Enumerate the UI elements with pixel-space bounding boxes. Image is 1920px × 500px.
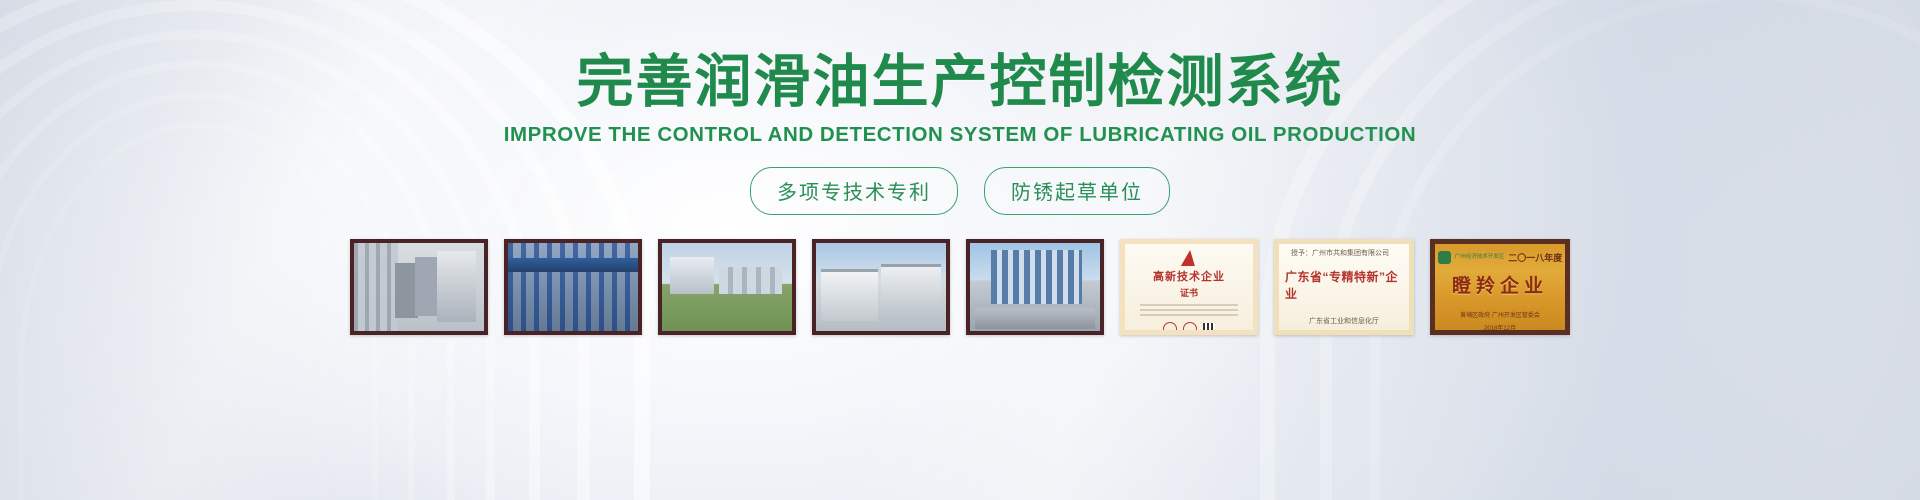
certificate-text-lines — [1140, 304, 1237, 319]
plaque-gazelle-enterprise[interactable]: 广州经济技术开发区 二〇一八年度 瞪羚企业 黄埔区政府 广州开发区管委会 201… — [1430, 239, 1570, 335]
office-building-exterior-image — [970, 243, 1100, 331]
page-title: 完善润滑油生产控制检测系统 — [577, 52, 1344, 114]
certificate-title-main: 广东省“专精特新”企业 — [1285, 268, 1403, 302]
plaque-title: 瞪羚企业 — [1452, 271, 1548, 298]
gallery-thumb-blue-piping-plant[interactable] — [504, 239, 642, 335]
flame-icon — [1181, 250, 1197, 266]
feature-pill-patents[interactable]: 多项专技术专利 — [750, 167, 958, 215]
plaque-header: 广州经济技术开发区 二〇一八年度 — [1438, 251, 1563, 264]
plant-storage-tanks-image — [662, 243, 792, 331]
banner-content: 完善润滑油生产控制检测系统 IMPROVE THE CONTROL AND DE… — [0, 0, 1920, 500]
gallery-thumb-white-industrial-buildings[interactable] — [812, 239, 950, 335]
feature-pill-standard-drafter[interactable]: 防锈起草单位 — [984, 167, 1170, 215]
certificate-footer-text: 广东省工业和信息化厅 — [1309, 316, 1379, 326]
plaque-org-line-1: 广州经济技术开发区 — [1455, 254, 1505, 261]
gallery-thumb-factory-interior-corridor[interactable] — [350, 239, 488, 335]
plaque-year: 二〇一八年度 — [1508, 251, 1562, 264]
red-seal-icon — [1163, 322, 1177, 335]
certificate-header-text: 授予：广州市共和集团有限公司 — [1291, 248, 1389, 258]
factory-interior-corridor-image — [354, 243, 484, 331]
gallery-strip: 高新技术企业 证书 授予：广州市共和集团有限公司 广东省“专精特新”企业 广东省… — [350, 239, 1570, 335]
certificate-title-sub: 证书 — [1180, 286, 1198, 299]
plaque-date: 2018年12月 — [1484, 323, 1516, 332]
feature-pill-group: 多项专技术专利 防锈起草单位 — [750, 167, 1170, 215]
certificate-specialized-new-enterprise[interactable]: 授予：广州市共和集团有限公司 广东省“专精特新”企业 广东省工业和信息化厅 — [1274, 239, 1414, 335]
qr-code-icon — [1203, 323, 1215, 335]
white-industrial-buildings-image — [816, 243, 946, 331]
page-subtitle: IMPROVE THE CONTROL AND DETECTION SYSTEM… — [504, 123, 1416, 147]
certificate-seal-row — [1163, 322, 1215, 335]
gallery-thumb-plant-storage-tanks[interactable] — [658, 239, 796, 335]
government-emblem-icon — [1438, 251, 1451, 264]
certificate-title-main: 高新技术企业 — [1153, 268, 1225, 284]
blue-piping-plant-image — [508, 243, 638, 331]
certificate-high-tech-enterprise[interactable]: 高新技术企业 证书 — [1120, 239, 1258, 335]
plaque-issuer: 黄埔区政府 广州开发区管委会 — [1460, 310, 1540, 319]
red-seal-icon — [1183, 322, 1197, 335]
gallery-thumb-office-building-exterior[interactable] — [966, 239, 1104, 335]
